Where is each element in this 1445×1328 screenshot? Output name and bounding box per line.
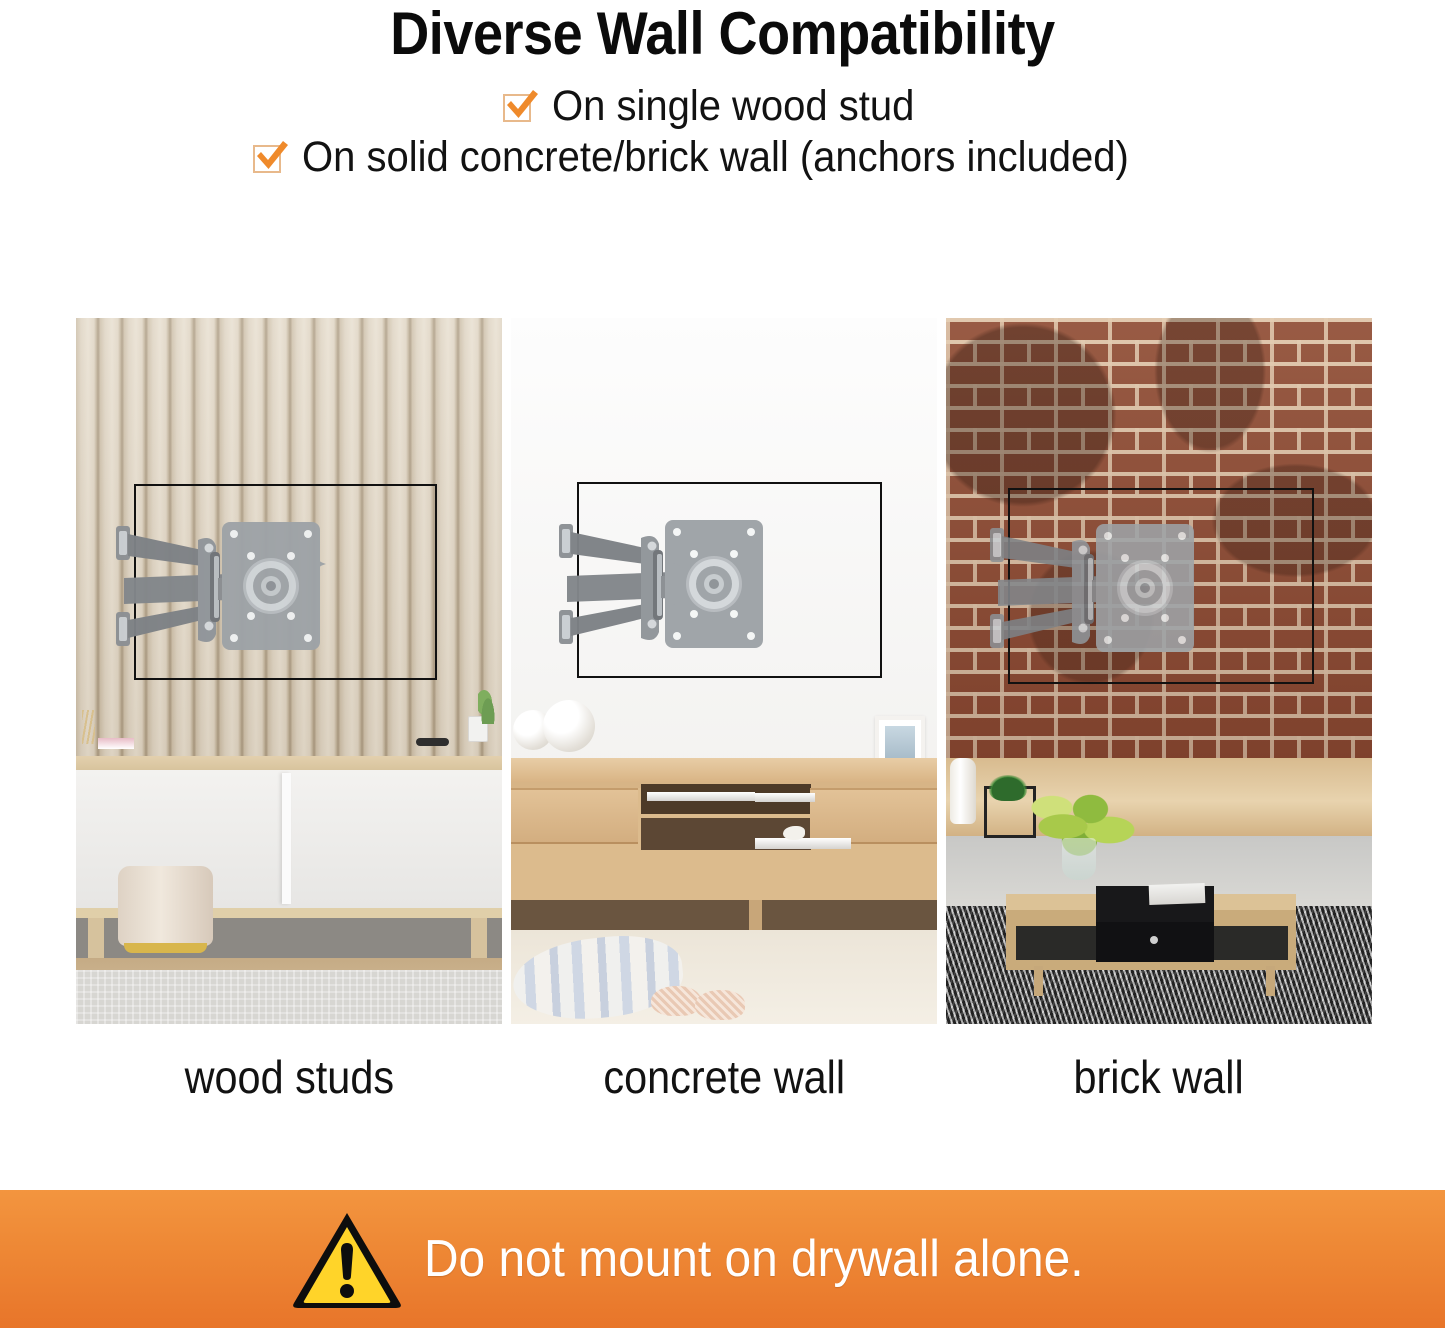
page-title: Diverse Wall Compatibility: [72, 0, 1373, 65]
table-open-shelf: [1016, 926, 1096, 960]
checkbox-checked-icon: [503, 89, 539, 125]
decor-sphere: [543, 700, 595, 752]
warning-triangle-icon: [288, 1207, 406, 1311]
bullet-item-concrete-brick: On solid concrete/brick wall (anchors in…: [0, 136, 1445, 179]
area-rug: [76, 970, 502, 1024]
slipper: [651, 986, 701, 1016]
decor-books: [98, 738, 134, 749]
tv-wall-mount-icon: [553, 514, 793, 662]
table-open-shelf: [1214, 926, 1288, 960]
sideboard-leg: [88, 918, 104, 960]
caption-concrete-wall: concrete wall: [511, 1052, 937, 1103]
panel-brick-wall: [946, 318, 1372, 1024]
panel-concrete-wall: [511, 318, 937, 1024]
ottoman: [118, 866, 213, 946]
panel-captions: wood studs concrete wall brick wall: [76, 1052, 1372, 1103]
decor-plant: [478, 688, 498, 724]
console-base-shadow: [511, 900, 937, 930]
console-drawer: [810, 788, 937, 844]
bullet-list: On single wood stud On solid concrete/br…: [0, 85, 1445, 179]
bird-figurine: [783, 826, 805, 840]
tv-wall-mount-icon: [110, 516, 350, 664]
decor-eyeglasses: [416, 738, 449, 746]
table-leg: [1034, 966, 1043, 996]
white-vase: [950, 758, 976, 824]
console-top: [511, 758, 937, 782]
bullet-label: On single wood stud: [552, 85, 914, 128]
magazine: [1149, 883, 1206, 905]
wall-type-panels: [76, 318, 1372, 1024]
warning-text: Do not mount on drywall alone.: [424, 1229, 1084, 1289]
sideboard-leg: [471, 918, 487, 960]
sideboard-door-gap: [282, 773, 291, 904]
drawer-knob: [1150, 936, 1158, 944]
potted-plant: [984, 786, 1036, 838]
tv-wall-mount-icon: [984, 518, 1224, 666]
caption-wood-studs: wood studs: [76, 1052, 502, 1103]
decor-sticks: [82, 710, 95, 744]
panel-wood-studs: [76, 318, 502, 1024]
slipper: [695, 990, 745, 1020]
header: Diverse Wall Compatibility On single woo…: [0, 0, 1445, 187]
shelf-books: [755, 838, 851, 849]
shelf-books: [647, 792, 755, 801]
glass-vase: [1062, 838, 1096, 880]
bullet-item-wood-stud: On single wood stud: [0, 85, 1445, 128]
table-leg: [1266, 966, 1275, 996]
warning-banner: Do not mount on drywall alone.: [0, 1190, 1445, 1328]
shelf-books: [755, 793, 815, 802]
caption-brick-wall: brick wall: [946, 1052, 1372, 1103]
bullet-label: On solid concrete/brick wall (anchors in…: [302, 136, 1129, 179]
sideboard-top: [76, 756, 502, 770]
checkbox-checked-icon: [253, 140, 289, 176]
console-drawer: [511, 788, 638, 844]
